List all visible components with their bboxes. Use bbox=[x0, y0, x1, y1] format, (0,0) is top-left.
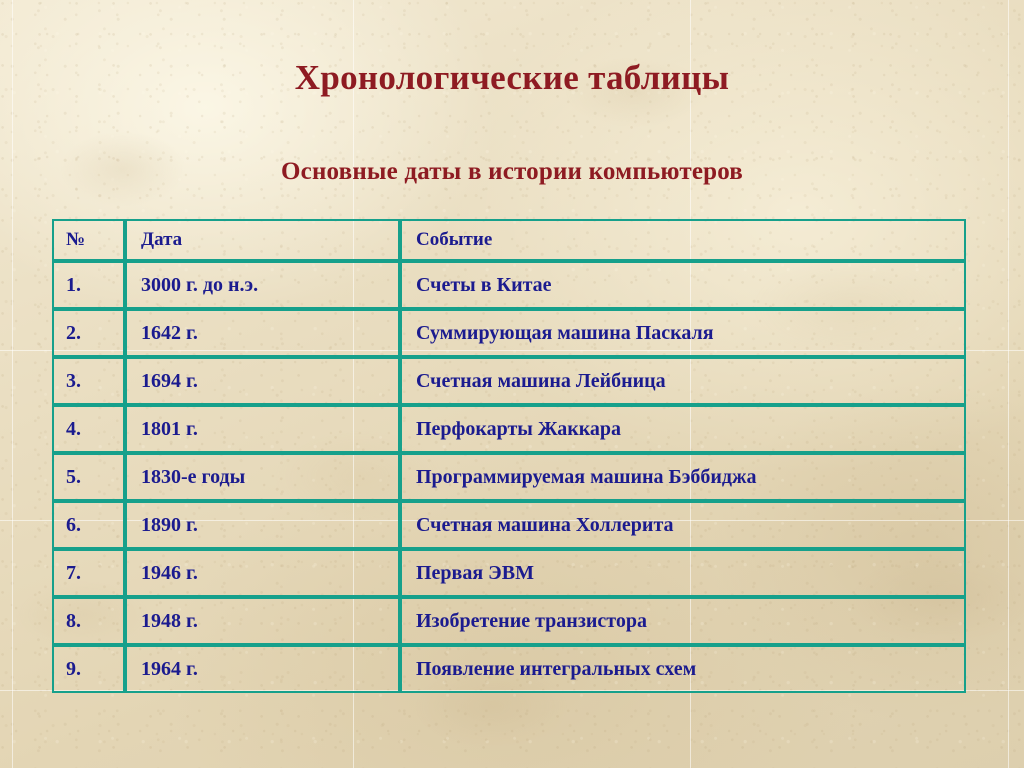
cell-number: 2. bbox=[52, 309, 125, 357]
table-row: 1. 3000 г. до н.э. Счеты в Китае bbox=[52, 261, 966, 309]
cell-number: 7. bbox=[52, 549, 125, 597]
cell-number: 8. bbox=[52, 597, 125, 645]
cell-date: 1948 г. bbox=[125, 597, 400, 645]
cell-date: 1946 г. bbox=[125, 549, 400, 597]
cell-event: Счетная машина Лейбница bbox=[400, 357, 966, 405]
cell-number: 9. bbox=[52, 645, 125, 693]
table-row: 5. 1830-е годы Программируемая машина Бэ… bbox=[52, 453, 966, 501]
chronology-table-container: № Дата Событие 1. 3000 г. до н.э. Счеты … bbox=[52, 219, 966, 693]
cell-date: 1642 г. bbox=[125, 309, 400, 357]
table-row: 6. 1890 г. Счетная машина Холлерита bbox=[52, 501, 966, 549]
column-header-number: № bbox=[52, 219, 125, 261]
cell-date: 1830-е годы bbox=[125, 453, 400, 501]
cell-event: Перфокарты Жаккара bbox=[400, 405, 966, 453]
table-row: 7. 1946 г. Первая ЭВМ bbox=[52, 549, 966, 597]
cell-event: Суммирующая машина Паскаля bbox=[400, 309, 966, 357]
cell-date: 1694 г. bbox=[125, 357, 400, 405]
cell-event: Счеты в Китае bbox=[400, 261, 966, 309]
cell-date: 3000 г. до н.э. bbox=[125, 261, 400, 309]
table-row: 8. 1948 г. Изобретение транзистора bbox=[52, 597, 966, 645]
cell-event: Появление интегральных схем bbox=[400, 645, 966, 693]
chronology-table: № Дата Событие 1. 3000 г. до н.э. Счеты … bbox=[52, 219, 966, 693]
cell-number: 5. bbox=[52, 453, 125, 501]
page-title: Хронологические таблицы bbox=[0, 58, 1024, 98]
cell-number: 6. bbox=[52, 501, 125, 549]
cell-event: Изобретение транзистора bbox=[400, 597, 966, 645]
table-row: 9. 1964 г. Появление интегральных схем bbox=[52, 645, 966, 693]
cell-event: Первая ЭВМ bbox=[400, 549, 966, 597]
column-header-date: Дата bbox=[125, 219, 400, 261]
cell-number: 3. bbox=[52, 357, 125, 405]
cell-date: 1890 г. bbox=[125, 501, 400, 549]
cell-event: Программируемая машина Бэббиджа bbox=[400, 453, 966, 501]
column-header-event: Событие bbox=[400, 219, 966, 261]
table-row: 3. 1694 г. Счетная машина Лейбница bbox=[52, 357, 966, 405]
table-row: 4. 1801 г. Перфокарты Жаккара bbox=[52, 405, 966, 453]
slide-canvas: Хронологические таблицы Основные даты в … bbox=[0, 0, 1024, 768]
cell-number: 1. bbox=[52, 261, 125, 309]
page-subtitle: Основные даты в истории компьютеров bbox=[0, 158, 1024, 186]
cell-date: 1801 г. bbox=[125, 405, 400, 453]
cell-event: Счетная машина Холлерита bbox=[400, 501, 966, 549]
table-header-row: № Дата Событие bbox=[52, 219, 966, 261]
cell-date: 1964 г. bbox=[125, 645, 400, 693]
cell-number: 4. bbox=[52, 405, 125, 453]
table-row: 2. 1642 г. Суммирующая машина Паскаля bbox=[52, 309, 966, 357]
grid-line-vertical bbox=[1008, 0, 1009, 768]
grid-line-vertical bbox=[12, 0, 13, 768]
